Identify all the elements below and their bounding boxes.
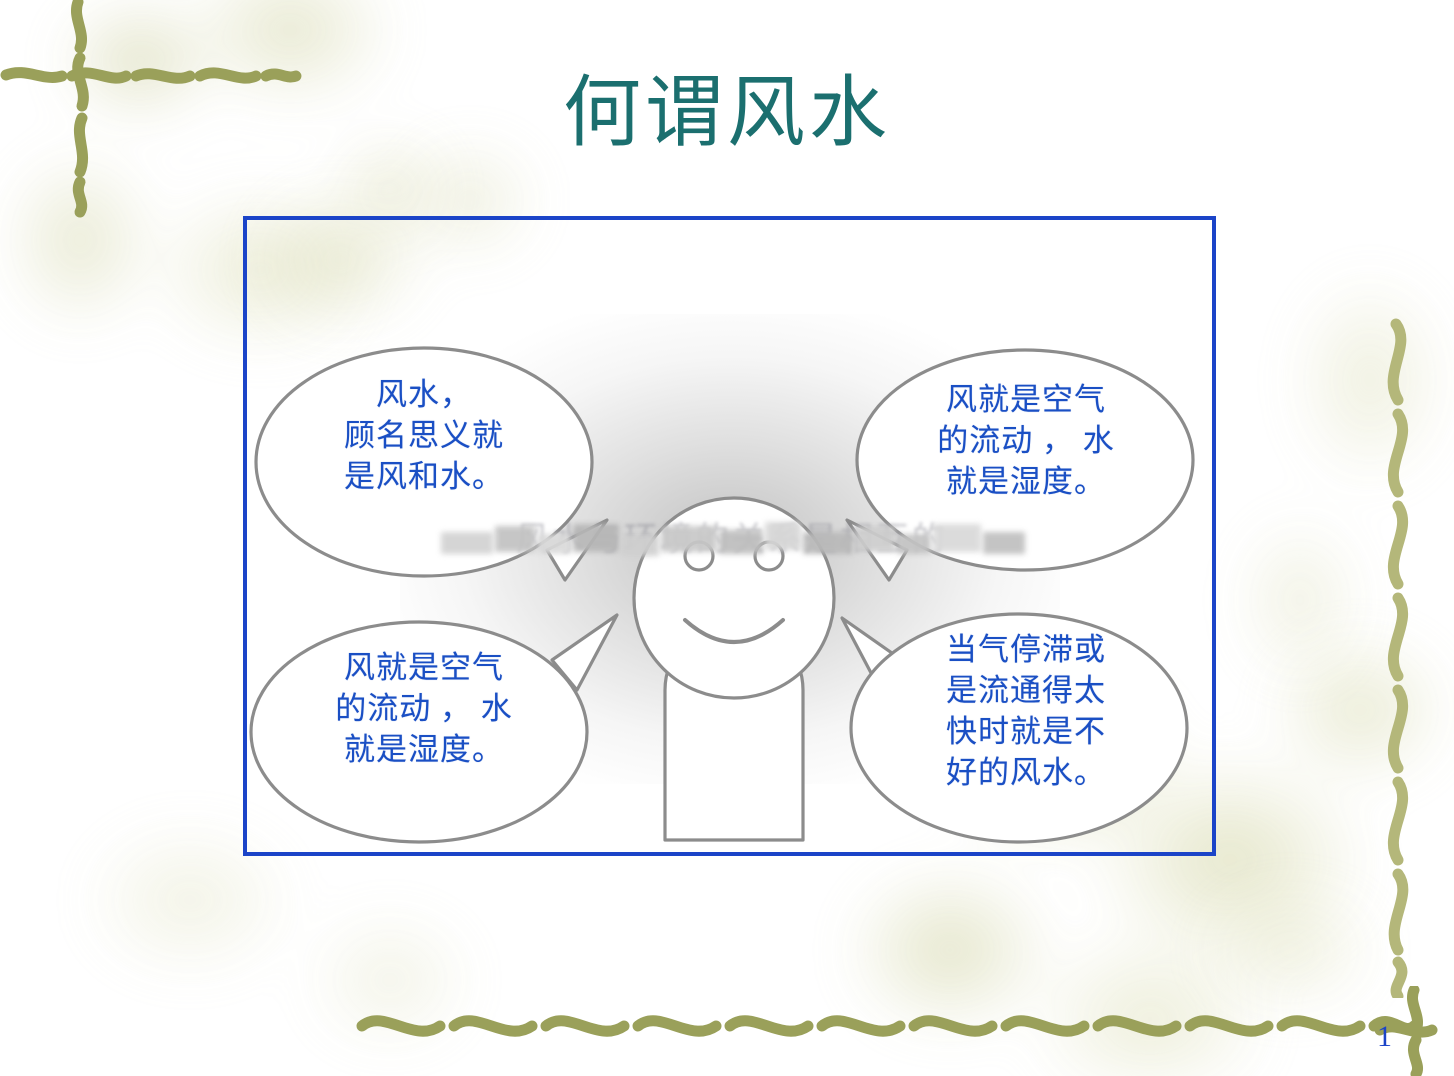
bubble-text-bottom-left: 风就是空气 的流动 ， 水 就是湿度。	[259, 648, 589, 771]
bamboo-vertical-right-icon	[1372, 318, 1428, 998]
bubble-text-top-left: 风水， 顾名思义就 是风和水。	[259, 375, 589, 498]
page-number: 1	[1377, 1020, 1392, 1054]
bubble-text-top-right: 风就是空气 的流动 ， 水 就是湿度。	[861, 380, 1191, 503]
content-frame: 风水， 顾名思义就 是风和水。 风就是空气 的流动 ， 水 就是湿度。 风就是空…	[243, 216, 1216, 856]
slide-canvas: 何谓风水	[0, 0, 1454, 1076]
diagram-area: 风水， 顾名思义就 是风和水。 风就是空气 的流动 ， 水 就是湿度。 风就是空…	[247, 220, 1212, 852]
center-figure-shape	[634, 498, 834, 840]
bubble-text-bottom-right: 当气停滞或 是流通得太 快时就是不 好的风水。	[861, 630, 1191, 794]
bamboo-horizontal-bottom-icon	[356, 1000, 1416, 1056]
floral-wash-mid-right	[1150, 840, 1454, 1076]
page-title: 何谓风水	[0, 72, 1454, 154]
floral-wash-right	[1180, 180, 1454, 700]
